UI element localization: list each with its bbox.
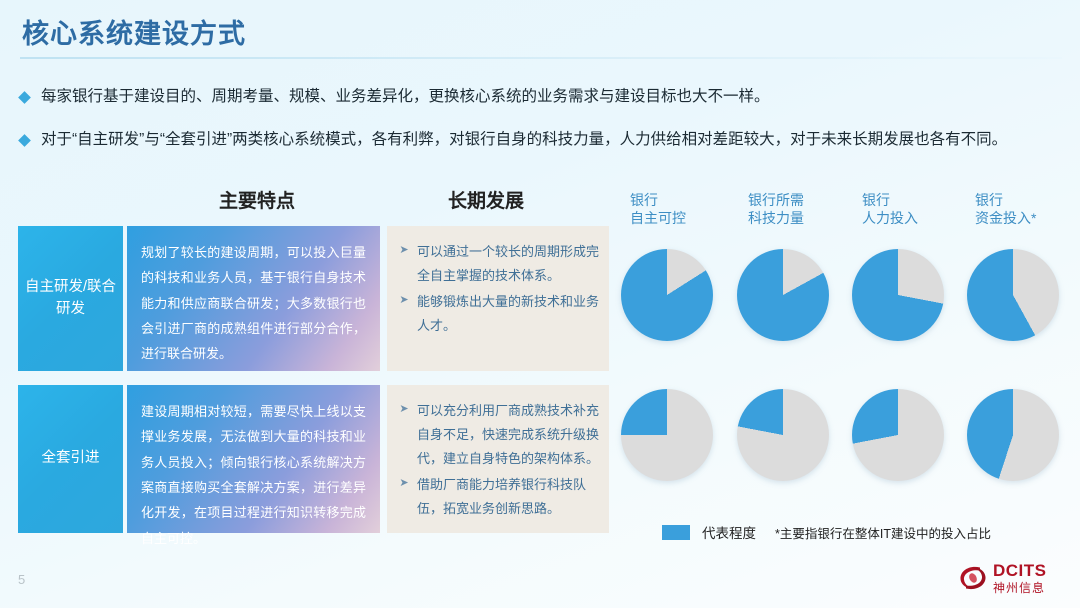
list-item-text: 可以充分利用厂商成熟技术补充自身不足，快速完成系统升级换代，建立自身特色的架构体… [417, 399, 599, 471]
arrow-bullet-icon: ➤ [395, 290, 413, 310]
pie-column-header-line2: 资金投入* [975, 210, 1036, 228]
list-item: ➤ 能够锻炼出大量的新技术和业务人才。 [395, 290, 599, 338]
pie-column-header-3: 银行人力投入 [862, 192, 918, 228]
dcits-swirl-icon [958, 564, 988, 592]
list-item: ➤ 可以通过一个较长的周期形成完全自主掌握的技术体系。 [395, 240, 599, 288]
column-header-features: 主要特点 [219, 186, 295, 213]
pie-column-header-4: 银行资金投入* [975, 192, 1036, 228]
pie-column-header-line1: 银行 [630, 192, 686, 210]
pie-column-header-2: 银行所需科技力量 [748, 192, 804, 228]
pie-column-header-1: 银行自主可控 [630, 192, 686, 228]
pie-column-header-line1: 银行 [975, 192, 1036, 210]
diamond-bullet-icon [18, 134, 31, 147]
pie-column-header-line2: 自主可控 [630, 210, 686, 228]
title-divider [20, 57, 1062, 59]
pie-chart-r1-c3 [852, 249, 944, 341]
list-item-text: 借助厂商能力培养银行科技队伍，拓宽业务创新思路。 [417, 473, 599, 521]
list-item: ➤ 可以充分利用厂商成熟技术补充自身不足，快速完成系统升级换代，建立自身特色的架… [395, 399, 599, 471]
chart-legend: 代表程度 [662, 522, 756, 542]
legend-swatch-icon [662, 525, 690, 540]
pie-column-header-line1: 银行所需 [748, 192, 804, 210]
pie-chart-r2-c3 [852, 389, 944, 481]
table-cell-features-self-developed: 规划了较长的建设周期，可以投入巨量的科技和业务人员，基于银行自身技术能力和供应商… [127, 226, 380, 371]
intro-bullet-1: 每家银行基于建设目的、周期考量、规模、业务差异化，更换核心系统的业务需求与建设目… [20, 86, 770, 108]
diamond-bullet-icon [18, 91, 31, 104]
table-cell-features-full-import: 建设周期相对较短，需要尽快上线以支撑业务发展，无法做到大量的科技和业务人员投入；… [127, 385, 380, 533]
page-title: 核心系统建设方式 [22, 12, 246, 51]
pie-chart-r2-c4 [967, 389, 1059, 481]
list-item: ➤ 借助厂商能力培养银行科技队伍，拓宽业务创新思路。 [395, 473, 599, 521]
logo-text: DCITS 神州信息 [993, 562, 1047, 594]
pie-chart-r1-c1 [621, 249, 713, 341]
list-item-text: 可以通过一个较长的周期形成完全自主掌握的技术体系。 [417, 240, 599, 288]
intro-bullet-2-text: 对于“自主研发”与“全套引进”两类核心系统模式，各有利弊，对银行自身的科技力量，… [41, 129, 1007, 151]
pie-chart-r2-c2 [737, 389, 829, 481]
list-item-text: 能够锻炼出大量的新技术和业务人才。 [417, 290, 599, 338]
intro-bullet-2: 对于“自主研发”与“全套引进”两类核心系统模式，各有利弊，对银行自身的科技力量，… [20, 129, 1007, 151]
pie-chart-r1-c2 [737, 249, 829, 341]
company-logo: DCITS 神州信息 [958, 562, 1047, 594]
pie-column-header-line1: 银行 [862, 192, 918, 210]
pie-chart-r2-c1 [621, 389, 713, 481]
table-cell-longterm-full-import: ➤ 可以充分利用厂商成熟技术补充自身不足，快速完成系统升级换代，建立自身特色的架… [387, 385, 609, 533]
legend-label: 代表程度 [702, 522, 756, 542]
logo-name: DCITS [993, 562, 1047, 579]
title-bar: 核心系统建设方式 [0, 0, 1080, 62]
logo-subtitle: 神州信息 [993, 582, 1047, 594]
table-row-label-self-developed: 自主研发/联合研发 [18, 226, 123, 371]
chart-footnote: *主要指银行在整体IT建设中的投入占比 [775, 523, 991, 542]
arrow-bullet-icon: ➤ [395, 240, 413, 260]
pie-column-header-line2: 科技力量 [748, 210, 804, 228]
arrow-bullet-icon: ➤ [395, 473, 413, 493]
arrow-bullet-icon: ➤ [395, 399, 413, 419]
table-cell-longterm-self-developed: ➤ 可以通过一个较长的周期形成完全自主掌握的技术体系。 ➤ 能够锻炼出大量的新技… [387, 226, 609, 371]
table-row-label-full-import: 全套引进 [18, 385, 123, 533]
page-number: 5 [18, 572, 25, 587]
column-header-longterm: 长期发展 [448, 186, 524, 213]
intro-bullet-1-text: 每家银行基于建设目的、周期考量、规模、业务差异化，更换核心系统的业务需求与建设目… [41, 86, 770, 108]
pie-chart-r1-c4 [967, 249, 1059, 341]
pie-column-header-line2: 人力投入 [862, 210, 918, 228]
